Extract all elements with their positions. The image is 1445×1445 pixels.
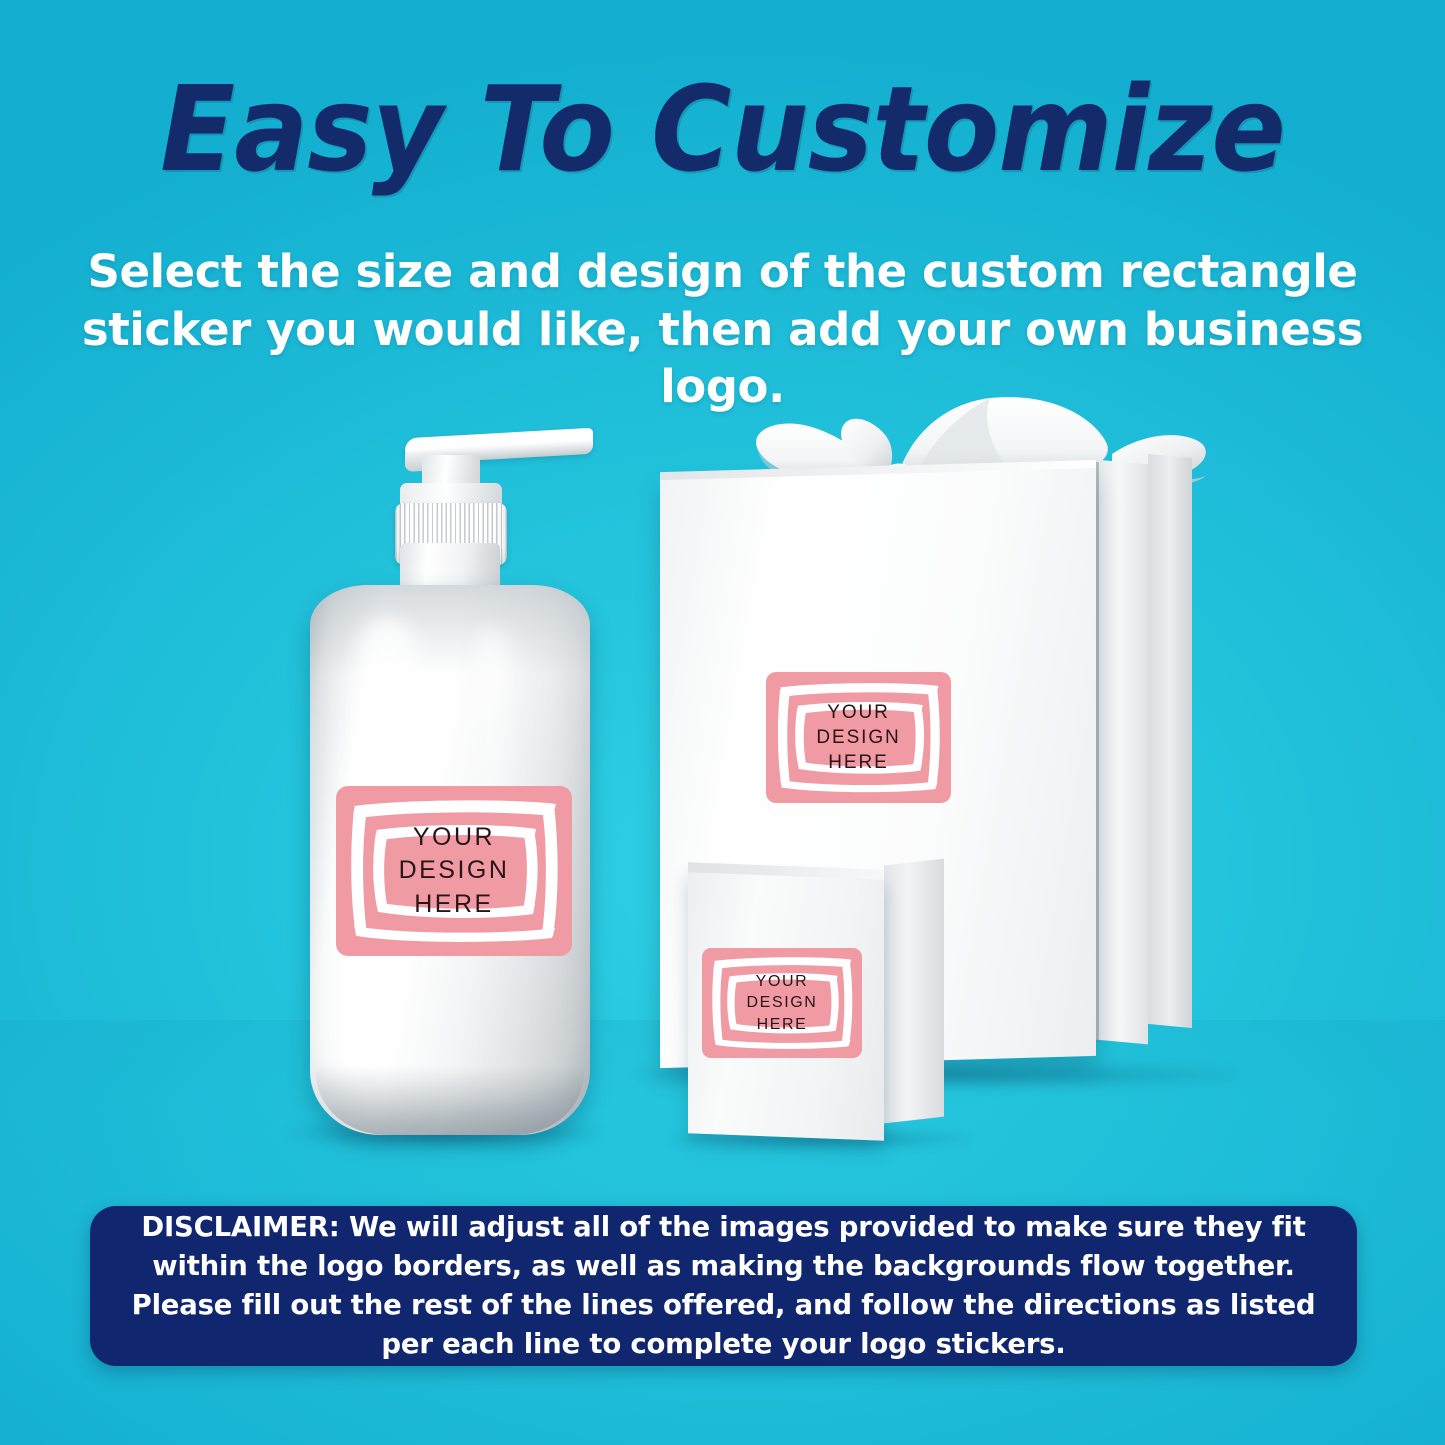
sticker-line-2: DESIGN <box>399 854 510 887</box>
sticker-line-1: YOUR <box>816 700 900 725</box>
giftbox-side-panel-far <box>1148 454 1192 1028</box>
promo-banner: Easy To Customize Select the size and de… <box>0 0 1445 1445</box>
giftbox-side-panel <box>1096 460 1148 1045</box>
disclaimer-text: DISCLAIMER: We will adjust all of the im… <box>124 1208 1323 1364</box>
bottle-bottom-shading <box>316 1065 584 1135</box>
sticker-text: YOUR DESIGN HERE <box>816 700 900 776</box>
sticker-line-1: YOUR <box>747 971 818 992</box>
sticker-line-3: HERE <box>816 750 900 775</box>
sticker-line-2: DESIGN <box>747 992 818 1013</box>
product-pump-bottle <box>300 425 600 1135</box>
sticker-line-2: DESIGN <box>816 725 900 750</box>
sticker-text: YOUR DESIGN HERE <box>747 971 818 1035</box>
smallbox-side-panel <box>884 859 944 1124</box>
disclaimer-label: DISCLAIMER: <box>141 1211 339 1243</box>
page-title: Easy To Customize <box>51 70 1395 188</box>
bottle-shoulder-shading <box>310 585 590 675</box>
page-subtitle: Select the size and design of the custom… <box>70 243 1375 416</box>
sticker-on-bottle[interactable]: YOUR DESIGN HERE <box>336 786 572 956</box>
sticker-on-small-carton[interactable]: YOUR DESIGN HERE <box>702 948 862 1058</box>
sticker-text: YOUR DESIGN HERE <box>399 821 510 921</box>
sticker-line-3: HERE <box>399 888 510 921</box>
sticker-line-3: HERE <box>747 1014 818 1035</box>
giftbox-lid-seam <box>1096 462 1099 1042</box>
sticker-on-gift-box[interactable]: YOUR DESIGN HERE <box>766 672 951 803</box>
disclaimer-panel: DISCLAIMER: We will adjust all of the im… <box>90 1206 1357 1366</box>
sticker-line-1: YOUR <box>399 821 510 854</box>
